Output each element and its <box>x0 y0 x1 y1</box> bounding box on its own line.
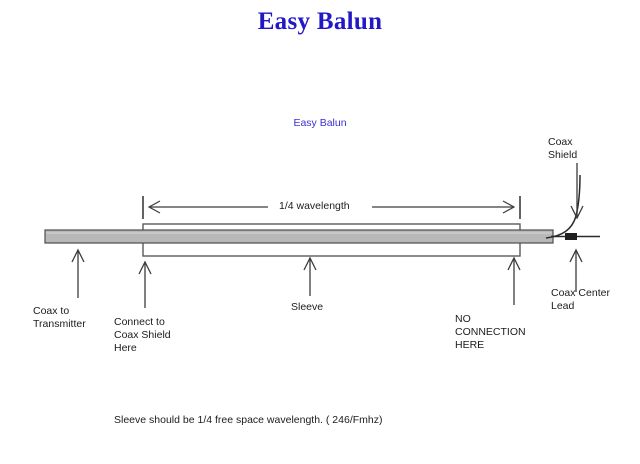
label-coax-shield: Coax Shield <box>548 136 577 162</box>
label-coax-center-lead: Coax Center Lead <box>551 287 610 313</box>
balun-drawing <box>0 0 640 464</box>
label-coax-to-transmitter: Coax to Transmitter <box>33 305 86 331</box>
callout-arrow-sleeve <box>304 258 316 296</box>
label-connect-to-coax-shield-here: Connect to Coax Shield Here <box>114 316 171 355</box>
dimension-label-quarter-wavelength: 1/4 wavelength <box>274 200 355 212</box>
diagram-caption: Sleeve should be 1/4 free space waveleng… <box>114 414 383 426</box>
coax-center-lead-conductor <box>551 233 600 240</box>
center-lead-connector-block <box>565 233 577 240</box>
callout-arrow-connect-to-coax-shield <box>139 262 151 308</box>
callout-arrow-coax-center-lead <box>570 250 582 292</box>
label-sleeve: Sleeve <box>291 301 323 314</box>
label-no-connection-here: NO CONNECTION HERE <box>455 313 526 352</box>
callout-arrow-no-connection-here <box>508 258 520 305</box>
diagram-canvas: Easy Balun Easy Balun <box>0 0 640 464</box>
callout-arrow-coax-to-transmitter <box>72 250 84 298</box>
callout-arrow-coax-shield <box>571 163 583 218</box>
coax-shield-braid-curve <box>546 175 580 238</box>
coax-cable-bar <box>45 230 553 243</box>
